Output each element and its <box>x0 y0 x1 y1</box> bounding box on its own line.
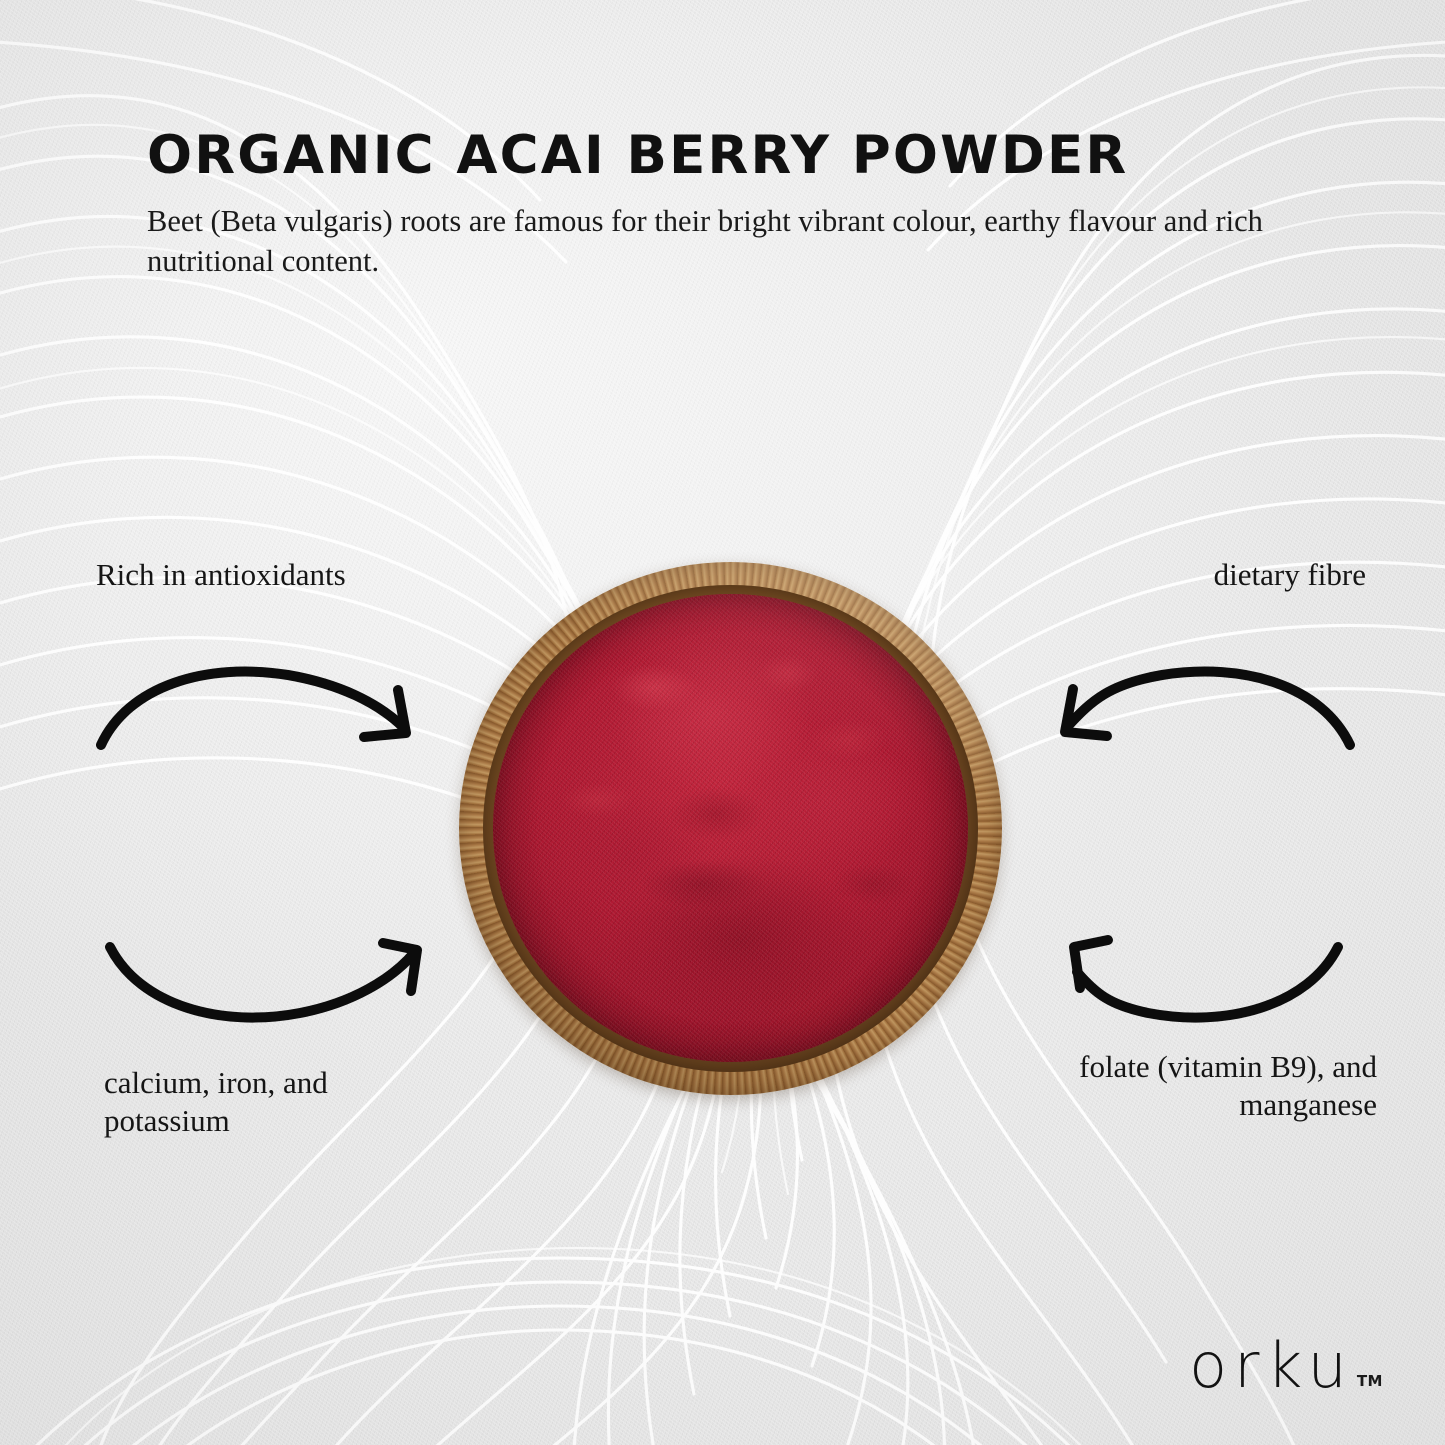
page-title: ORGANIC ACAI BERRY POWDER <box>147 128 1327 184</box>
brand-logo: orku TM <box>1189 1335 1383 1397</box>
callout-top-right: dietary fibre <box>1214 556 1366 594</box>
callout-bottom-right: folate (vitamin B9), and manganese <box>1079 1048 1377 1124</box>
product-infographic: ORGANIC ACAI BERRY POWDER Beet (Beta vul… <box>0 0 1445 1445</box>
page-subtitle: Beet (Beta vulgaris) roots are famous fo… <box>147 202 1307 281</box>
powder-shading <box>493 594 969 1062</box>
trademark-symbol: TM <box>1357 1372 1383 1390</box>
callout-top-left: Rich in antioxidants <box>96 556 346 594</box>
callout-bottom-left: calcium, iron, and potassium <box>104 1064 328 1140</box>
acai-berry-powder <box>493 594 969 1062</box>
header: ORGANIC ACAI BERRY POWDER Beet (Beta vul… <box>147 128 1327 281</box>
brand-wordmark: orku <box>1189 1335 1354 1397</box>
product-bowl-image <box>459 562 1002 1095</box>
